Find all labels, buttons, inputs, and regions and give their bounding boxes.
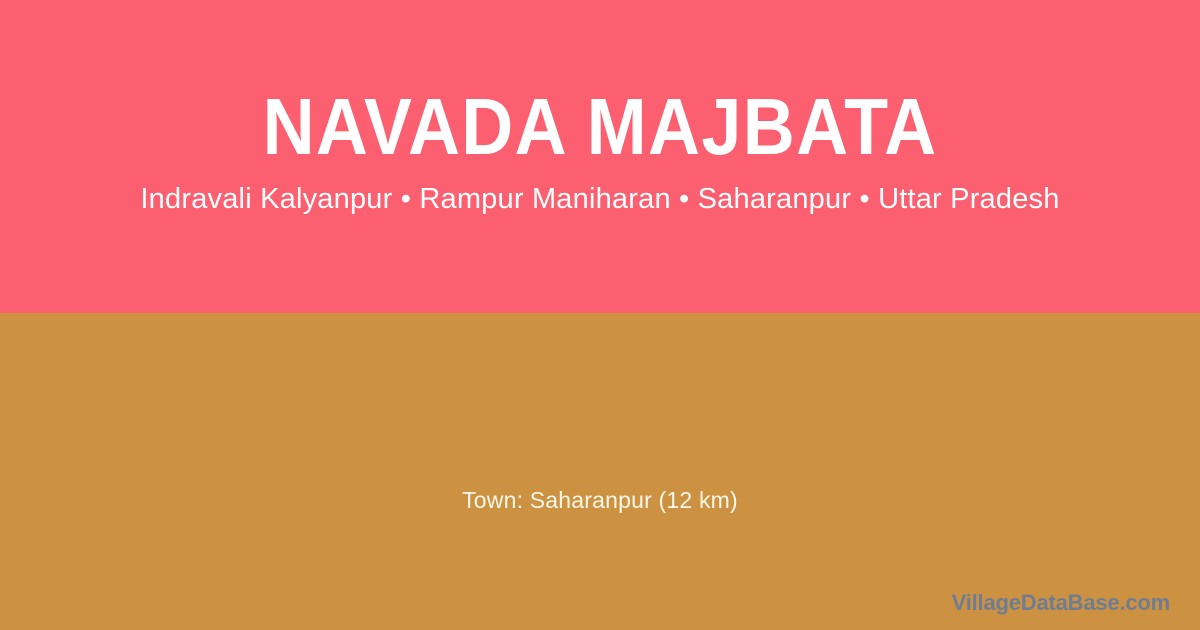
breadcrumb: Indravali Kalyanpur • Rampur Maniharan •…: [0, 181, 1200, 217]
page-title: NAVADA MAJBATA: [60, 82, 1140, 172]
header-band: NAVADA MAJBATA Indravali Kalyanpur • Ram…: [0, 0, 1200, 313]
village-info-card: NAVADA MAJBATA Indravali Kalyanpur • Ram…: [0, 0, 1200, 630]
nearest-town-detail: Town: Saharanpur (12 km): [0, 486, 1200, 514]
body-area: Town: Saharanpur (12 km) VillageDataBase…: [0, 313, 1200, 630]
site-watermark: VillageDataBase.com: [952, 590, 1170, 616]
